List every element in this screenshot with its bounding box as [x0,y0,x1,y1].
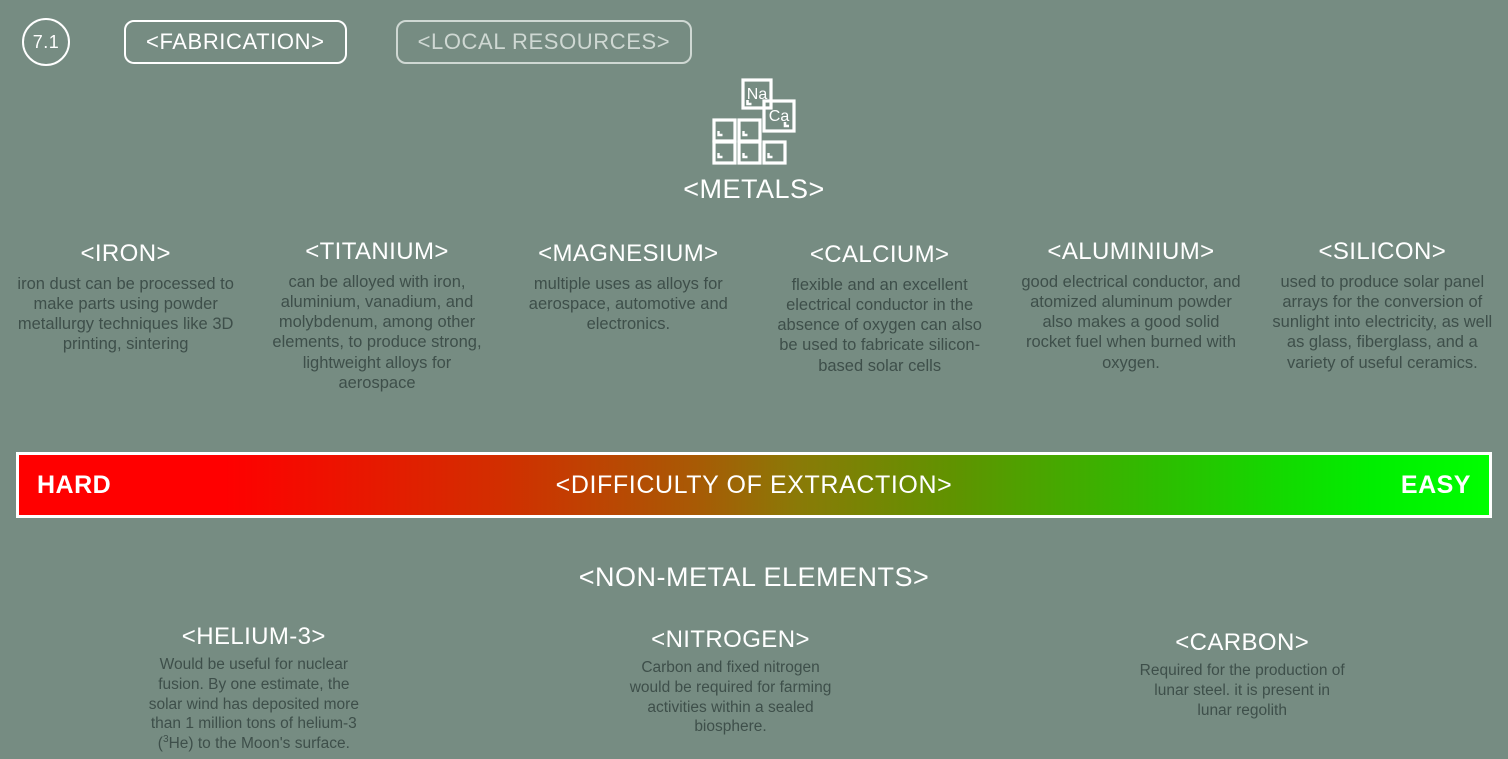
metal-description: iron dust can be processed to make parts… [14,274,237,355]
difficulty-of-extraction-scale: HARD <DIFFICULTY OF EXTRACTION> EASY [16,452,1492,518]
metal-name: <SILICON> [1271,238,1494,266]
metal-item-iron: <IRON> iron dust can be processed to mak… [0,238,251,355]
metals-header: Na Ca <METALS> [0,78,1508,205]
metal-description: good electrical conductor, and atomized … [1019,272,1242,373]
metal-description: can be alloyed with iron, aluminium, van… [265,272,488,394]
metal-name: <ALUMINIUM> [1019,238,1242,266]
metal-description: used to produce solar panel arrays for t… [1271,272,1494,373]
nonmetal-description-part2: He) to the Moon's surface. [169,735,350,752]
difficulty-label-easy: EASY [1401,471,1471,500]
metal-item-silicon: <SILICON> used to produce solar panel ar… [1257,238,1508,373]
chapter-number: 7.1 [33,32,60,53]
difficulty-scale-title: <DIFFICULTY OF EXTRACTION> [19,471,1489,500]
metal-description: flexible and an excellent electrical con… [768,275,991,376]
difficulty-label-hard: HARD [37,471,111,500]
nonmetal-item-helium-3: <HELIUM-3> Would be useful for nuclear f… [0,624,475,754]
metal-name: <MAGNESIUM> [517,240,740,268]
metal-name: <CALCIUM> [768,241,991,269]
metal-item-aluminium: <ALUMINIUM> good electrical conductor, a… [1005,238,1256,373]
tab-fabrication[interactable]: <FABRICATION> [124,20,347,64]
metals-list: <IRON> iron dust can be processed to mak… [0,238,1508,393]
nonmetal-description: Required for the production of lunar ste… [1136,661,1348,720]
metal-item-calcium: <CALCIUM> flexible and an excellent elec… [754,238,1005,376]
nonmetal-name: <HELIUM-3> [148,624,360,650]
nonmetal-name: <CARBON> [1136,630,1348,656]
periodic-table-icon: Na Ca [706,78,802,166]
metal-item-titanium: <TITANIUM> can be alloyed with iron, alu… [251,238,502,393]
nonmetal-description: Carbon and fixed nitrogen would be requi… [625,658,837,737]
tab-fabrication-label: <FABRICATION> [146,29,325,55]
nonmetal-item-carbon: <CARBON> Required for the production of … [986,624,1508,754]
chapter-badge: 7.1 [22,18,70,66]
topbar: 7.1 <FABRICATION> <LOCAL RESOURCES> [22,17,692,67]
tab-local-resources-label: <LOCAL RESOURCES> [418,29,671,55]
nonmetals-list: <HELIUM-3> Would be useful for nuclear f… [0,624,1508,754]
metal-description: multiple uses as alloys for aerospace, a… [517,274,740,335]
metal-name: <IRON> [14,240,237,268]
nonmetal-name: <NITROGEN> [625,627,837,653]
nonmetals-title: <NON-METAL ELEMENTS> [0,562,1508,593]
metal-name: <TITANIUM> [265,238,488,266]
tab-local-resources[interactable]: <LOCAL RESOURCES> [396,20,693,64]
nonmetal-item-nitrogen: <NITROGEN> Carbon and fixed nitrogen wou… [475,624,987,754]
metal-item-magnesium: <MAGNESIUM> multiple uses as alloys for … [503,238,754,334]
metals-title: <METALS> [683,174,825,205]
nonmetal-description: Would be useful for nuclear fusion. By o… [148,655,360,753]
